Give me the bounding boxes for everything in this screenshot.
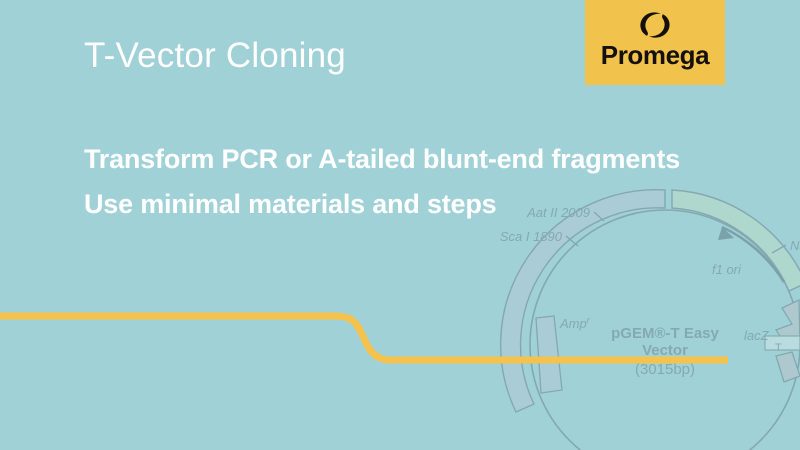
- subtitle-line-1: Transform PCR or A-tailed blunt-end frag…: [84, 137, 784, 182]
- subtitle-line-2: Use minimal materials and steps: [84, 182, 784, 227]
- promega-ring-icon: [638, 8, 672, 42]
- promega-logo: Promega: [585, 0, 725, 85]
- promega-wordmark: Promega: [585, 40, 725, 71]
- slide-canvas: Aat II 2009 Sca I 1890 Nae f1 ori lacZ T…: [0, 0, 800, 450]
- subtitle-block: Transform PCR or A-tailed blunt-end frag…: [84, 137, 784, 227]
- accent-s-curve-path: [0, 316, 728, 360]
